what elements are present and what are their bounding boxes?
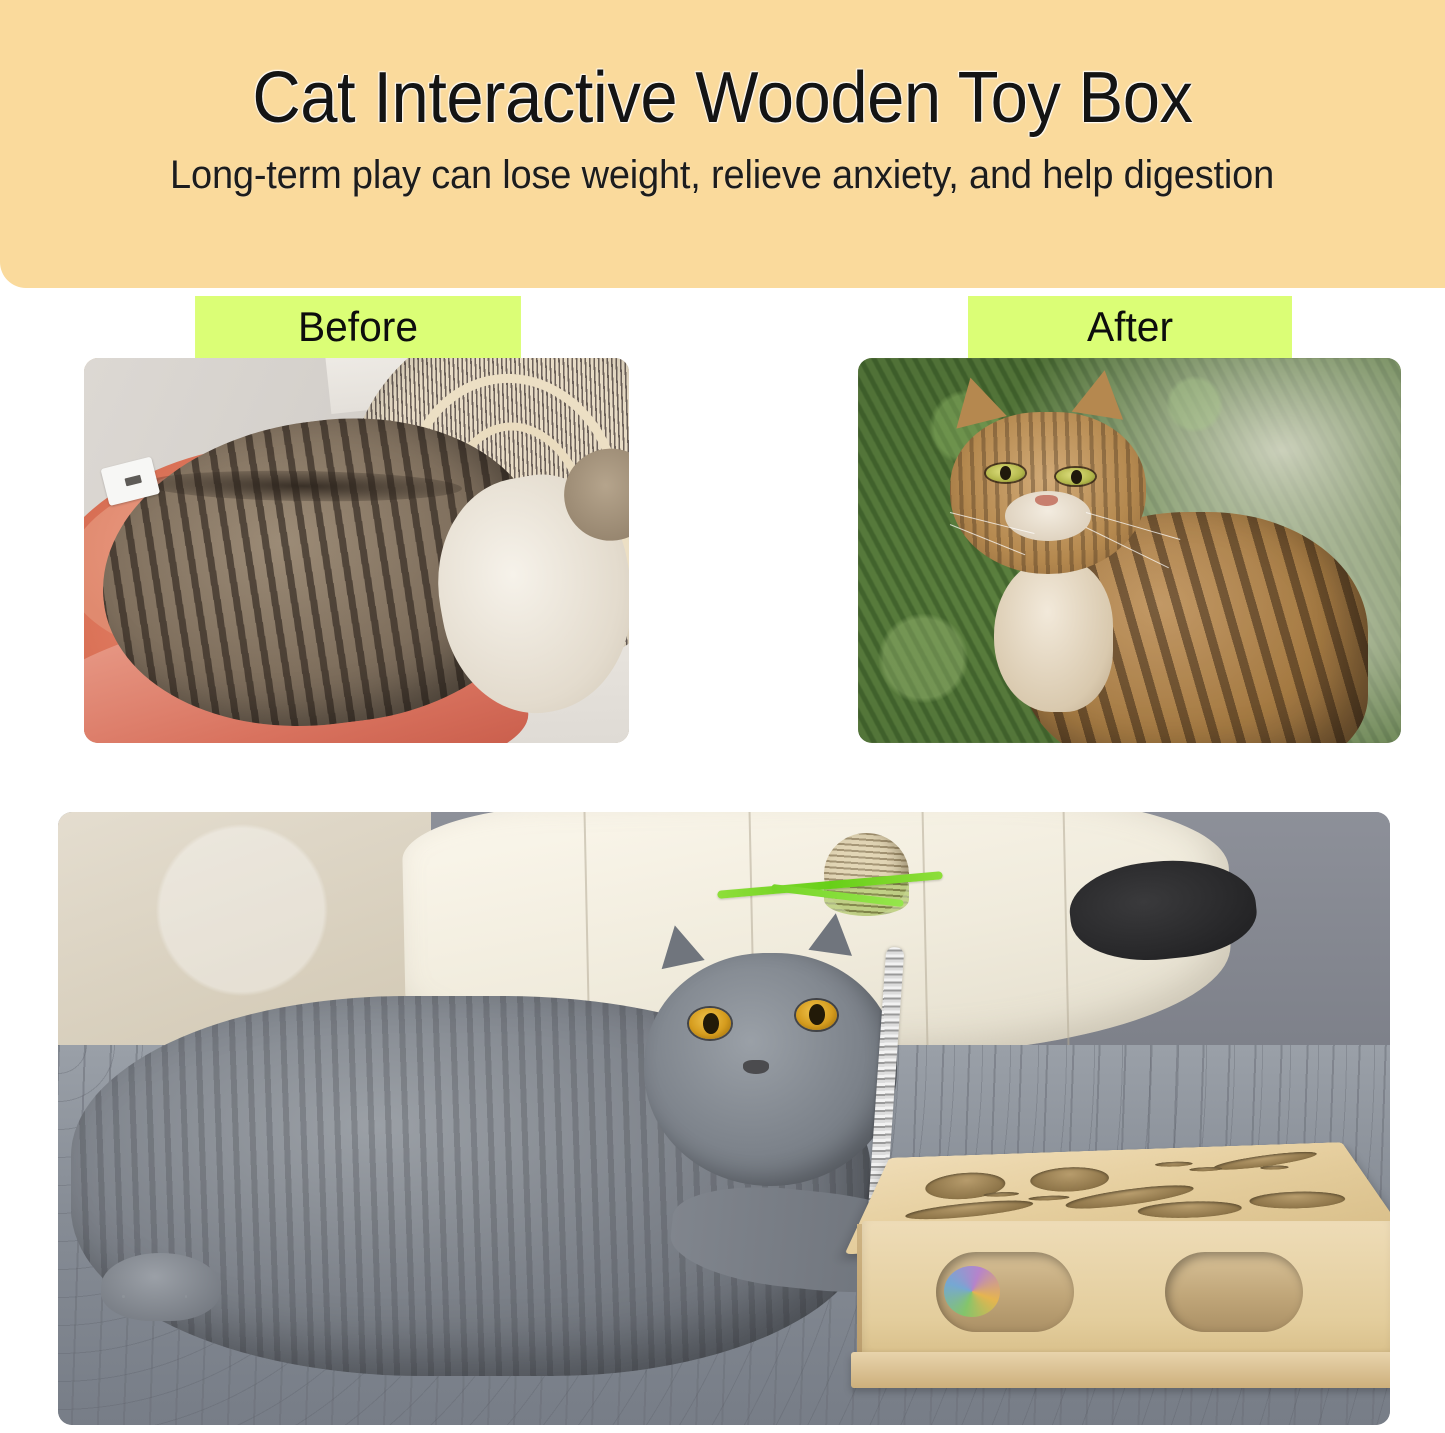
toy-box-hole [1246, 1190, 1349, 1210]
blanket-fold [1062, 812, 1069, 1052]
cat-ear-right [808, 910, 857, 956]
cat-ear-right [1072, 366, 1131, 420]
before-photo-inner [84, 358, 629, 743]
toy-box-hole [903, 1197, 1033, 1223]
cat-spine-marking [144, 469, 462, 504]
toy-box-hole [1029, 1166, 1109, 1193]
cat-pupil-left [1000, 466, 1011, 480]
cat-pupil-right [1071, 470, 1082, 484]
cat-nose [743, 1060, 770, 1073]
blanket-fold [922, 812, 929, 1055]
toy-box-front-hole-right [1165, 1252, 1303, 1332]
wooden-toy-box [851, 1057, 1390, 1413]
header-banner: Cat Interactive Wooden Toy Box Long-term… [0, 0, 1445, 288]
toy-box-front-hole-left [936, 1252, 1074, 1332]
cat-paw [101, 1253, 221, 1320]
cat-pupil-left [703, 1013, 719, 1034]
cat-paw-toe [185, 1295, 188, 1298]
mouse-toy [944, 1266, 999, 1317]
toy-box-base [851, 1352, 1390, 1388]
before-label: Before [195, 296, 521, 358]
toy-box-hole [1188, 1167, 1222, 1172]
toy-box-hole [1028, 1195, 1069, 1201]
toy-box-hole [1136, 1200, 1244, 1220]
main-product-photo [58, 812, 1390, 1425]
toy-box-hole [1210, 1149, 1321, 1174]
cat-paw-toe [153, 1295, 156, 1298]
after-photo [858, 358, 1401, 743]
cat-paw-toe [122, 1295, 125, 1298]
toy-box-hole [983, 1192, 1019, 1198]
page-subtitle: Long-term play can lose weight, relieve … [170, 153, 1274, 198]
before-photo [84, 358, 629, 743]
toy-box-hole [1154, 1161, 1193, 1167]
after-label: After [968, 296, 1292, 358]
cat-chest-fur [994, 558, 1113, 712]
toy-box-front-panel [862, 1221, 1390, 1363]
page-title: Cat Interactive Wooden Toy Box [252, 62, 1192, 135]
toy-box-hole [1259, 1165, 1289, 1170]
